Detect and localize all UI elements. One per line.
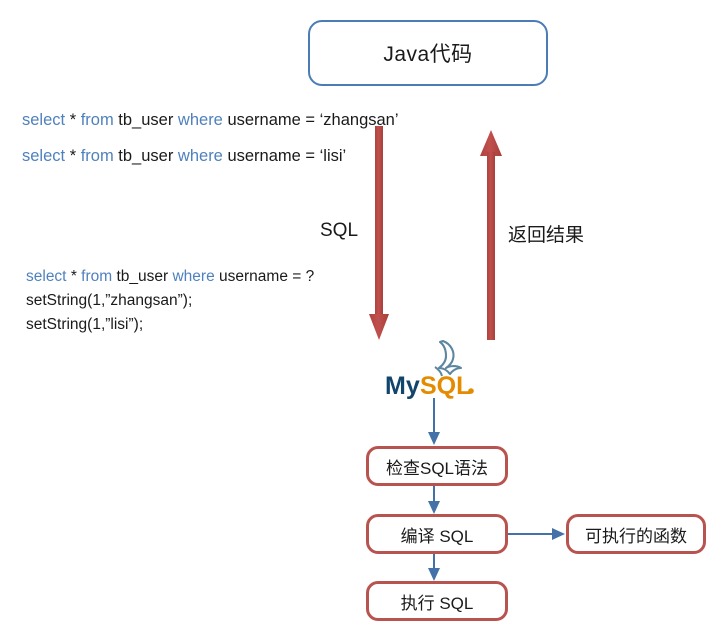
process-box-executable-function: 可执行的函数 <box>566 514 706 554</box>
sql-text: username = ? <box>219 268 314 285</box>
sql-text: * <box>71 268 81 285</box>
connector-mysql-to-check <box>424 398 444 448</box>
code-line: select * from tb_user where username = ? <box>26 265 314 289</box>
sql-keyword: select <box>26 268 71 285</box>
process-box-execute-sql: 执行 SQL <box>366 581 508 621</box>
process-box-label: 编译 SQL <box>401 522 474 547</box>
sql-code-block-plain: select * from tb_user where username = ‘… <box>22 109 399 182</box>
sql-keyword: where <box>172 268 219 285</box>
code-line: select * from tb_user where username = ‘… <box>22 109 399 132</box>
connector-compile-to-exec <box>424 554 444 583</box>
process-box-check-syntax: 检查SQL语法 <box>366 446 508 486</box>
sql-keyword: from <box>81 111 119 129</box>
sql-keyword: from <box>81 268 116 285</box>
java-code-box: Java代码 <box>308 20 548 86</box>
sql-down-arrow <box>365 126 393 344</box>
sql-text: * <box>70 147 81 165</box>
connector-check-to-compile <box>424 486 444 516</box>
code-line: setString(1,”zhangsan”); <box>26 289 314 313</box>
code-line: setString(1,”lisi”); <box>26 313 314 337</box>
sql-keyword: where <box>178 147 228 165</box>
sql-keyword: from <box>81 147 119 165</box>
sql-keyword: select <box>22 147 70 165</box>
svg-text:SQL: SQL <box>420 372 471 400</box>
process-box-label: 可执行的函数 <box>585 522 687 547</box>
code-line: select * from tb_user where username = ‘… <box>22 145 399 168</box>
process-box-label: 执行 SQL <box>401 589 474 614</box>
result-up-arrow <box>477 128 505 342</box>
sql-text: tb_user <box>118 111 178 129</box>
connector-compile-to-function <box>508 524 568 544</box>
sql-text: username = ‘lisi’ <box>227 147 346 165</box>
sql-code-block-prepared: select * from tb_user where username = ?… <box>26 265 314 338</box>
svg-text:My: My <box>385 372 420 400</box>
result-flow-label: 返回结果 <box>508 220 584 247</box>
sql-keyword: where <box>178 111 228 129</box>
java-code-box-label: Java代码 <box>383 38 472 68</box>
sql-text: * <box>70 111 81 129</box>
sql-flow-label: SQL <box>320 220 358 242</box>
sql-text: tb_user <box>118 147 178 165</box>
process-box-compile-sql: 编译 SQL <box>366 514 508 554</box>
sql-keyword: select <box>22 111 70 129</box>
sql-text: tb_user <box>116 268 172 285</box>
process-box-label: 检查SQL语法 <box>386 454 488 479</box>
diagram-canvas: Java代码 select * from tb_user where usern… <box>0 0 723 634</box>
mysql-dolphin-icon: My SQL <box>383 338 483 400</box>
mysql-logo: My SQL <box>383 338 483 400</box>
